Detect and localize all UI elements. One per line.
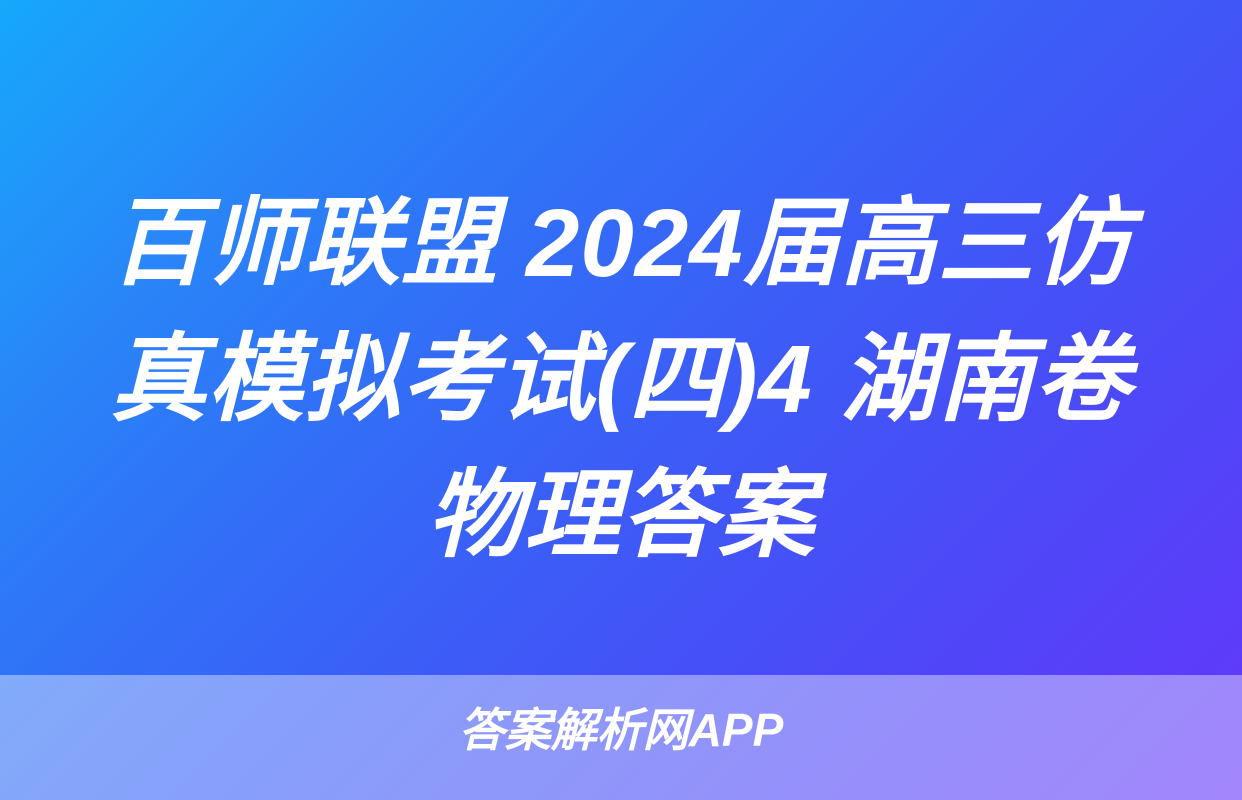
poster-canvas: 百师联盟 2024届高三仿真模拟考试(四)4 湖南卷物理答案 答案解析网APP [0, 0, 1242, 800]
watermark-app-name: 答案解析网APP [0, 700, 1242, 760]
page-title: 百师联盟 2024届高三仿真模拟考试(四)4 湖南卷物理答案 [0, 176, 1242, 584]
